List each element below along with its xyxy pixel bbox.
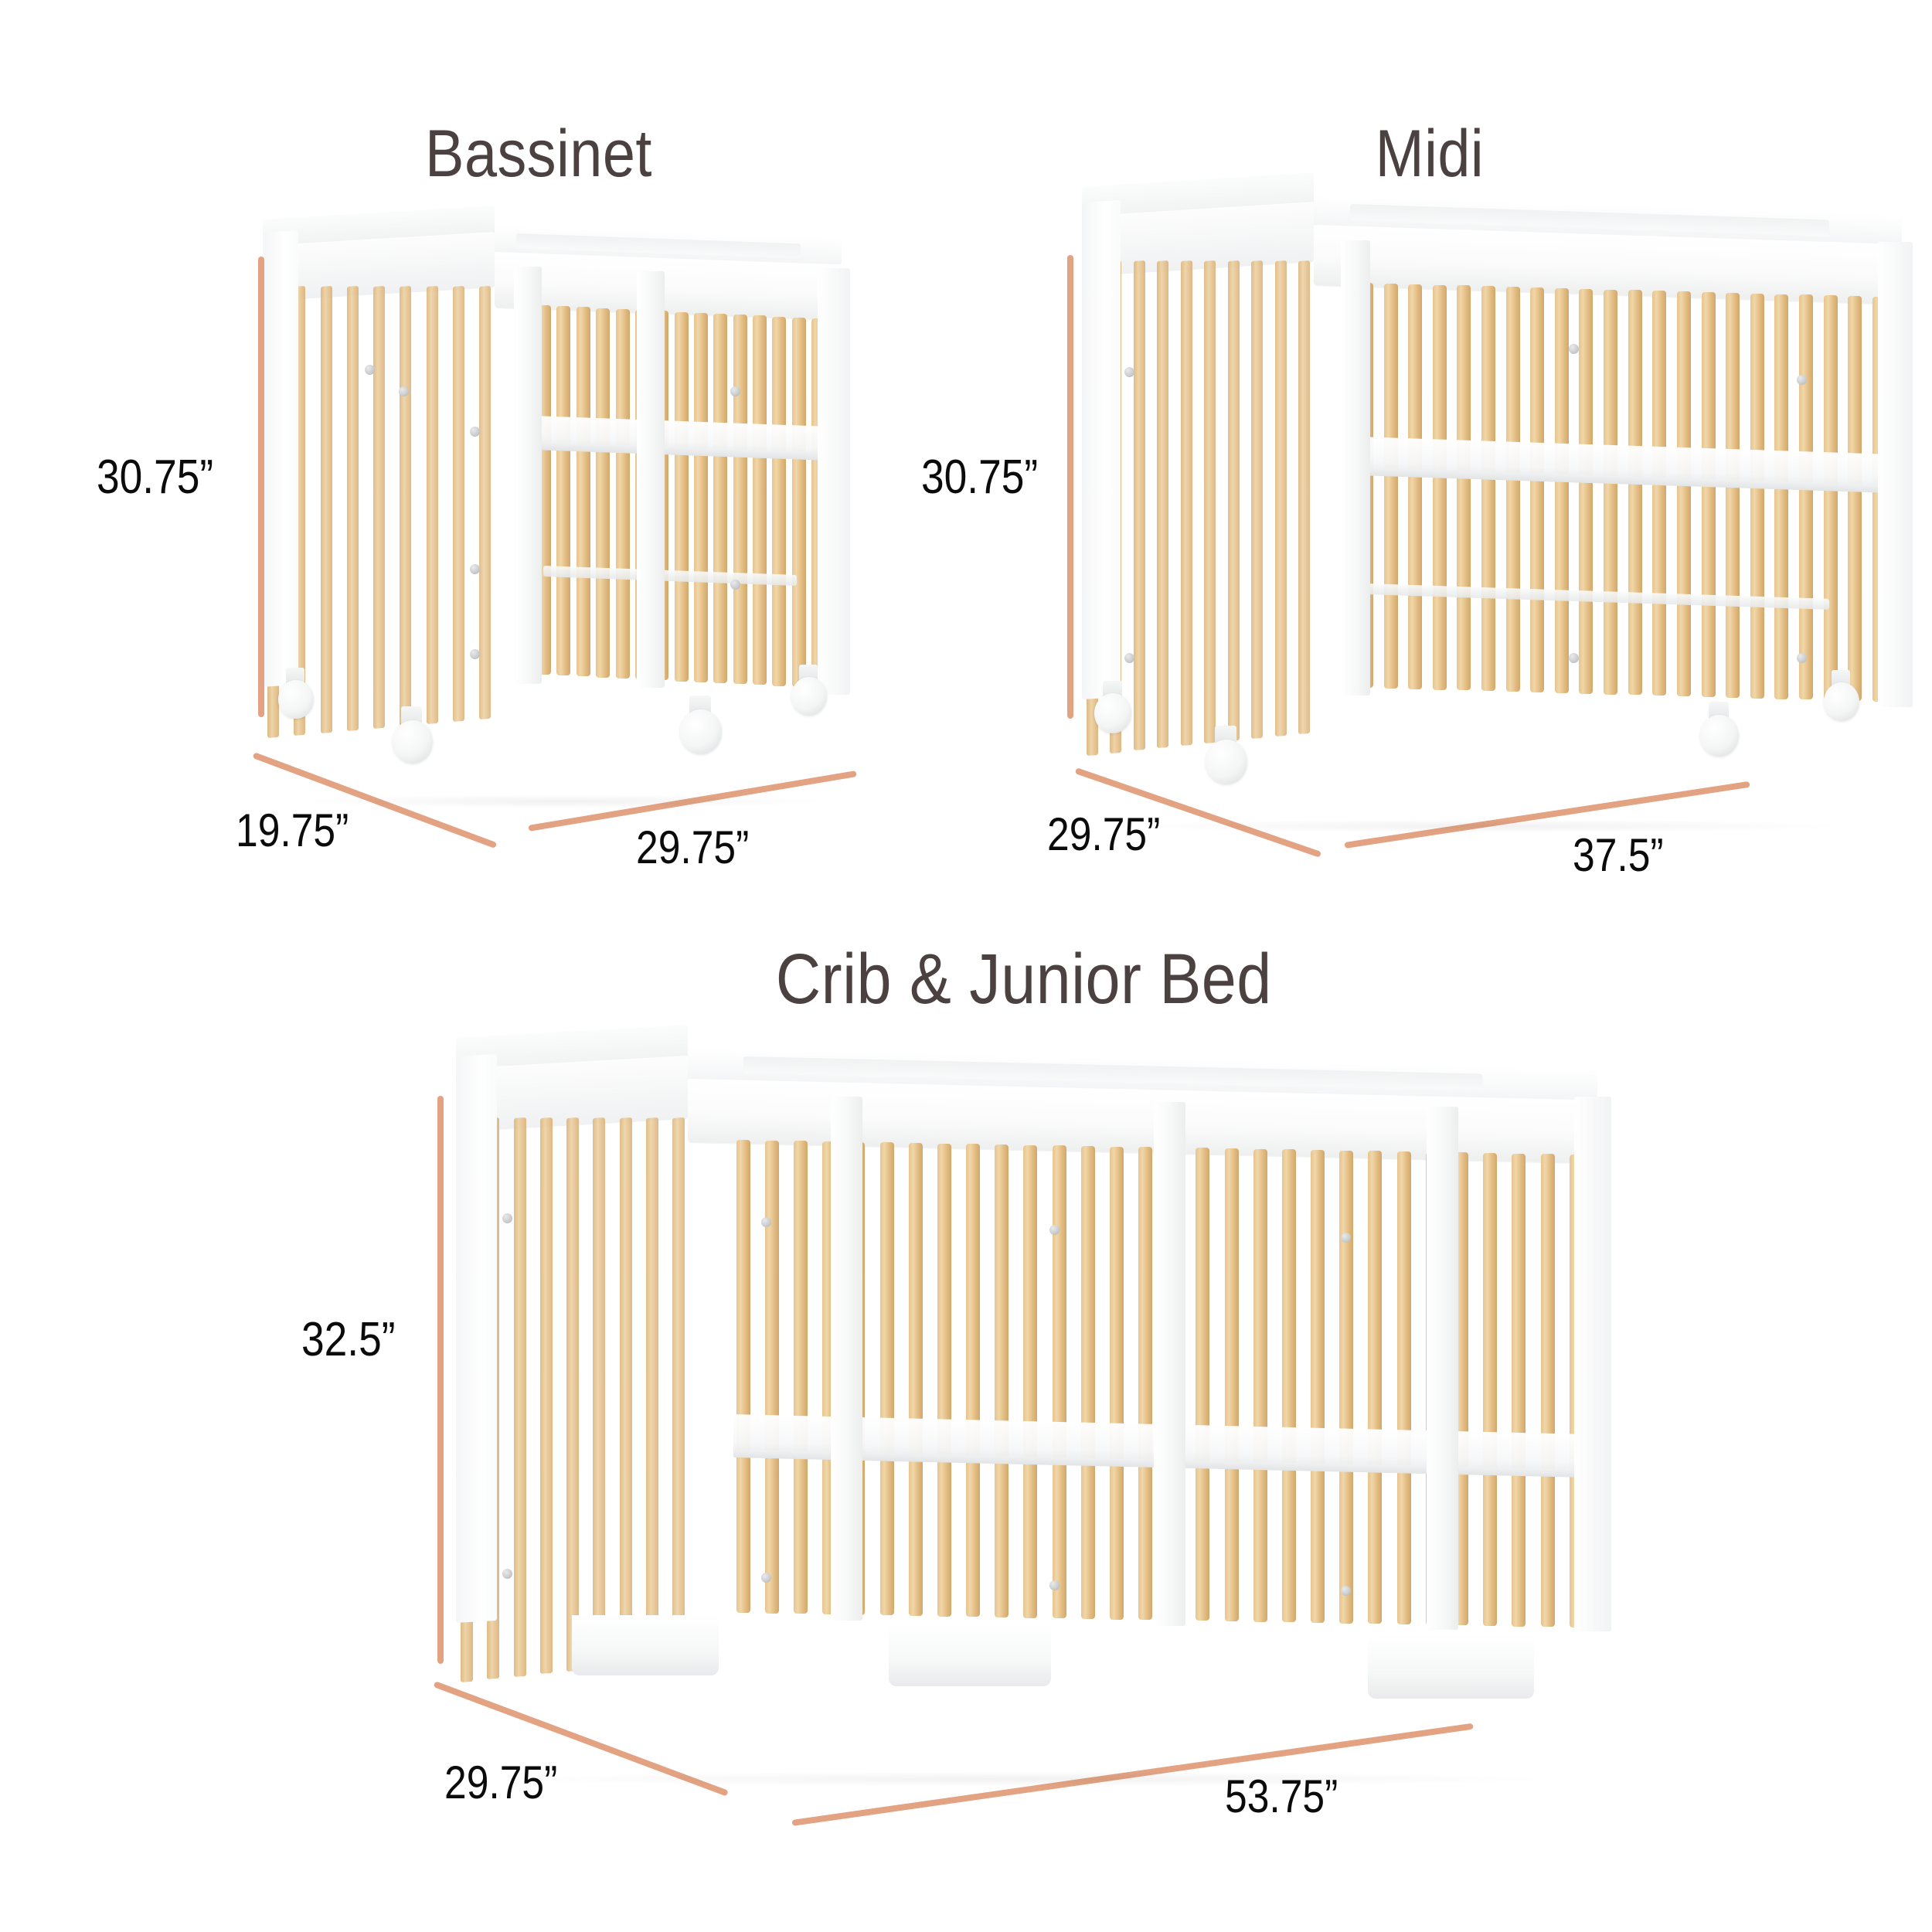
crib-front-slat [794,1141,808,1614]
crib-screw [1124,367,1134,377]
crib-front-slat [753,315,767,685]
crib-front-slat [616,309,630,679]
crib-front-slat [1408,284,1422,689]
crib-front-slat [1750,294,1764,699]
crib-front-slat [995,1145,1009,1617]
crib-front-slat [1081,1146,1095,1619]
crib-side-slat [1181,260,1192,746]
crib-front-right-post [1878,242,1913,707]
crib-side-slat [566,1117,579,1672]
crib-caster [278,680,314,719]
crib-front-slat [713,314,727,683]
crib-caster [393,720,433,764]
crib-side-slat [1134,260,1145,750]
bassinet-height-rule [258,257,264,717]
crib-front-slat [880,1142,894,1615]
crib-front-slat [1506,287,1520,692]
crib-front-slat [1541,1154,1555,1627]
midi-illustration [1082,220,1913,815]
crib-front-slat [694,313,708,682]
crib-side-corner-post [263,230,298,687]
crib-ground-shadow [1113,819,1855,833]
crib-front-slat [1628,290,1642,695]
crib-front-post [1341,240,1370,695]
crib-front-slat [577,307,590,676]
crib-front-post [1427,1107,1458,1631]
crib-front-slat [1368,1151,1382,1624]
crib-side-slat [1228,260,1240,741]
dimension-diagram-canvas: Bassinet 30.75” 19.75” 29.75” Midi 30.75… [0,0,1932,1932]
crib-side-slat [514,1117,526,1677]
midi-width-label: 37.5” [1573,828,1664,882]
crib-height-label: 32.5” [301,1312,396,1367]
crib-front-slat [792,318,806,687]
crib-front-slat [556,306,570,675]
crib-height-rule [437,1096,444,1664]
crib-side-slat [1204,260,1216,743]
crib-front-slat [1397,1151,1411,1624]
crib-side-slat [1251,260,1263,739]
crib-caster [1824,682,1859,721]
crib-screw [1797,653,1807,663]
crib-front-slat [1282,1149,1296,1622]
section-title-bassinet: Bassinet [425,116,652,192]
crib-front-slat [1824,295,1838,700]
crib-front-slat [1604,290,1617,695]
crib-front-slat [1384,284,1398,689]
crib-foot [572,1615,719,1675]
crib-front-slat [675,312,689,682]
crib-front-slat [1339,1151,1353,1624]
crib-front-slat [1579,289,1593,694]
crib-screw [470,649,480,659]
crib-screw [1569,653,1579,663]
midi-depth-label: 29.75” [1047,808,1160,861]
crib-screw [761,1217,771,1227]
crib-front-slat [1530,287,1544,692]
crib-screw [1341,1586,1351,1596]
crib-side-slat [620,1117,632,1666]
crib-front-slat [1196,1148,1209,1621]
crib-side-slat [1275,260,1287,736]
crib-front-post [831,1097,862,1621]
crib-front-slat [1023,1145,1037,1618]
crib-screw [1124,653,1134,663]
crib-screw [1569,344,1579,354]
crib-front-slat [596,308,610,678]
crib-front-slat [1512,1154,1526,1627]
crib-front-slat [937,1144,951,1617]
crib-caster [1700,715,1739,757]
crib-screw [502,1569,512,1579]
crib-front-slat [1433,285,1447,690]
crib-front-right-post [818,268,850,695]
crib-side-slat [1157,260,1168,748]
crib-caster [1094,693,1131,733]
crib-side-slat [646,1117,658,1663]
crib-ground-shadow [294,794,835,808]
crib-front-slat [1481,286,1495,691]
crib-side-corner-post [456,1054,497,1623]
crib-caster [680,709,722,754]
crib-caster [791,677,827,716]
section-title-midi: Midi [1376,116,1485,192]
crib-front-slat [733,315,747,684]
crib-screw [761,1573,771,1583]
crib-front-slat [1138,1147,1152,1620]
crib-screw [1797,375,1807,385]
crib-side-slat [400,286,411,726]
crib-front-slat [1652,291,1666,696]
section-title-crib-junior-bed: Crib & Junior Bed [776,939,1272,1020]
crib-front-slat [966,1144,980,1617]
crib-side-corner-post [1082,200,1121,699]
crib-front-post [637,271,665,689]
crib-front-slat [1702,292,1716,697]
midi-height-label: 30.75” [921,450,1038,505]
crib-front-slat [1677,291,1691,696]
crib-front-slat [736,1140,750,1613]
crib-front-slat [1774,294,1788,699]
crib-screw [470,564,480,574]
crib-foot [889,1624,1051,1686]
crib-front-slat [1110,1147,1124,1620]
crib-front-slat [1555,288,1569,693]
crib-screw [730,580,740,590]
crib-front-right-post [1574,1097,1611,1631]
crib-side-slat [427,286,438,724]
crib-screw [1341,1233,1351,1243]
crib-screw [1049,1580,1060,1590]
crib-side-slat [593,1117,605,1668]
crib-front-post [1154,1102,1185,1626]
crib-front-slat [1483,1153,1497,1626]
crib-screw [365,365,375,375]
crib-front-slat [1253,1149,1267,1622]
crib-side-slat [1298,260,1310,734]
crib-side-slat [453,286,464,722]
crib-side-slat [540,1117,553,1674]
crib-front-slat [1053,1145,1066,1618]
crib-screw [730,386,740,396]
crib-side-slat [321,286,332,733]
crib-front-slat [1457,285,1471,690]
midi-height-rule [1067,255,1073,719]
crib-front-slat [1311,1150,1325,1623]
crib-screw [502,1213,512,1223]
bassinet-width-label: 29.75” [636,821,749,874]
crib-side-slat [479,286,491,719]
crib-front-slat [765,1141,779,1614]
bassinet-illustration [263,247,850,804]
crib-side-slat [373,286,385,729]
crib-junior-bed-illustration [456,1074,1611,1770]
crib-front-slat [1799,294,1813,699]
crib-front-post [514,267,542,684]
crib-ground-shadow [495,1771,1561,1787]
crib-front-slat [1848,296,1862,701]
crib-front-slat [909,1143,923,1616]
crib-foot [1368,1635,1534,1699]
bassinet-height-label: 30.75” [97,450,213,505]
crib-front-slat [772,317,786,686]
bassinet-depth-label: 19.75” [236,804,349,857]
crib-front-slat [1726,293,1740,698]
crib-screw [470,427,480,437]
crib-screw [399,386,409,396]
crib-caster [1206,740,1247,784]
crib-front-slat [1225,1148,1239,1621]
crib-side-slat [672,1117,685,1661]
crib-screw [1049,1225,1060,1235]
crib-side-slat [347,286,359,731]
